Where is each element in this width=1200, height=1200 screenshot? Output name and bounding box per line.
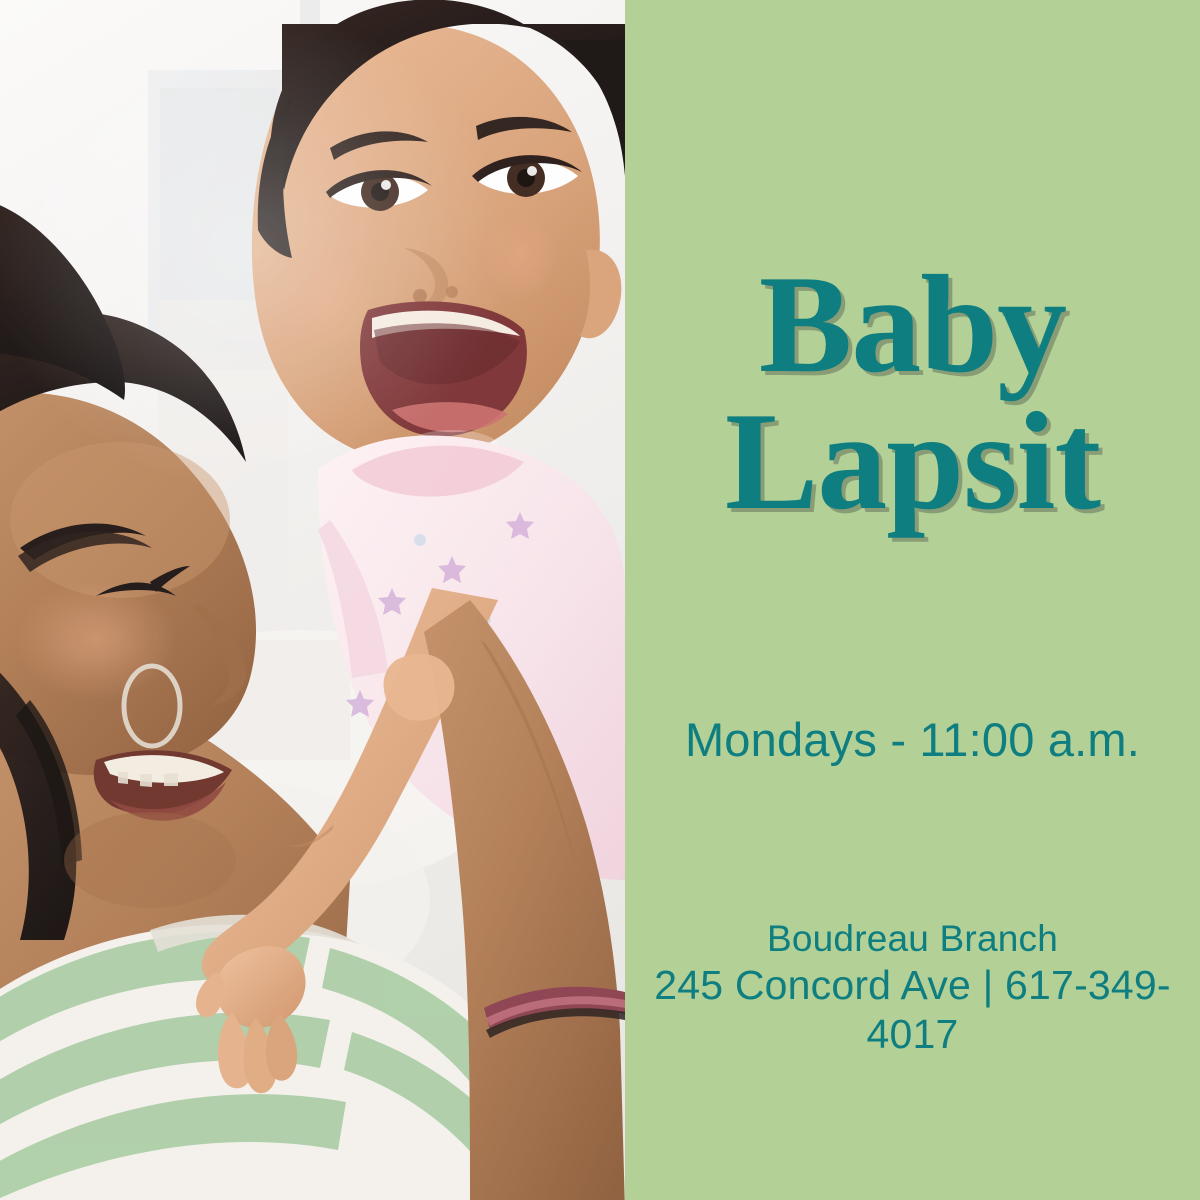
poster-photo: [0, 0, 625, 1200]
venue-branch-name: Boudreau Branch: [625, 918, 1200, 961]
photo-illustration: [0, 0, 625, 1200]
event-schedule: Mondays - 11:00 a.m.: [625, 712, 1200, 767]
event-poster: Baby Lapsit Mondays - 11:00 a.m. Boudrea…: [0, 0, 1200, 1200]
event-title-line-2: Lapsit: [625, 393, 1200, 530]
venue-address-phone: 245 Concord Ave | 617-349-4017: [625, 961, 1200, 1059]
venue-block: Boudreau Branch 245 Concord Ave | 617-34…: [625, 918, 1200, 1059]
event-title-line-1: Baby: [625, 256, 1200, 393]
event-title: Baby Lapsit: [625, 256, 1200, 530]
info-panel: Baby Lapsit Mondays - 11:00 a.m. Boudrea…: [625, 0, 1200, 1200]
